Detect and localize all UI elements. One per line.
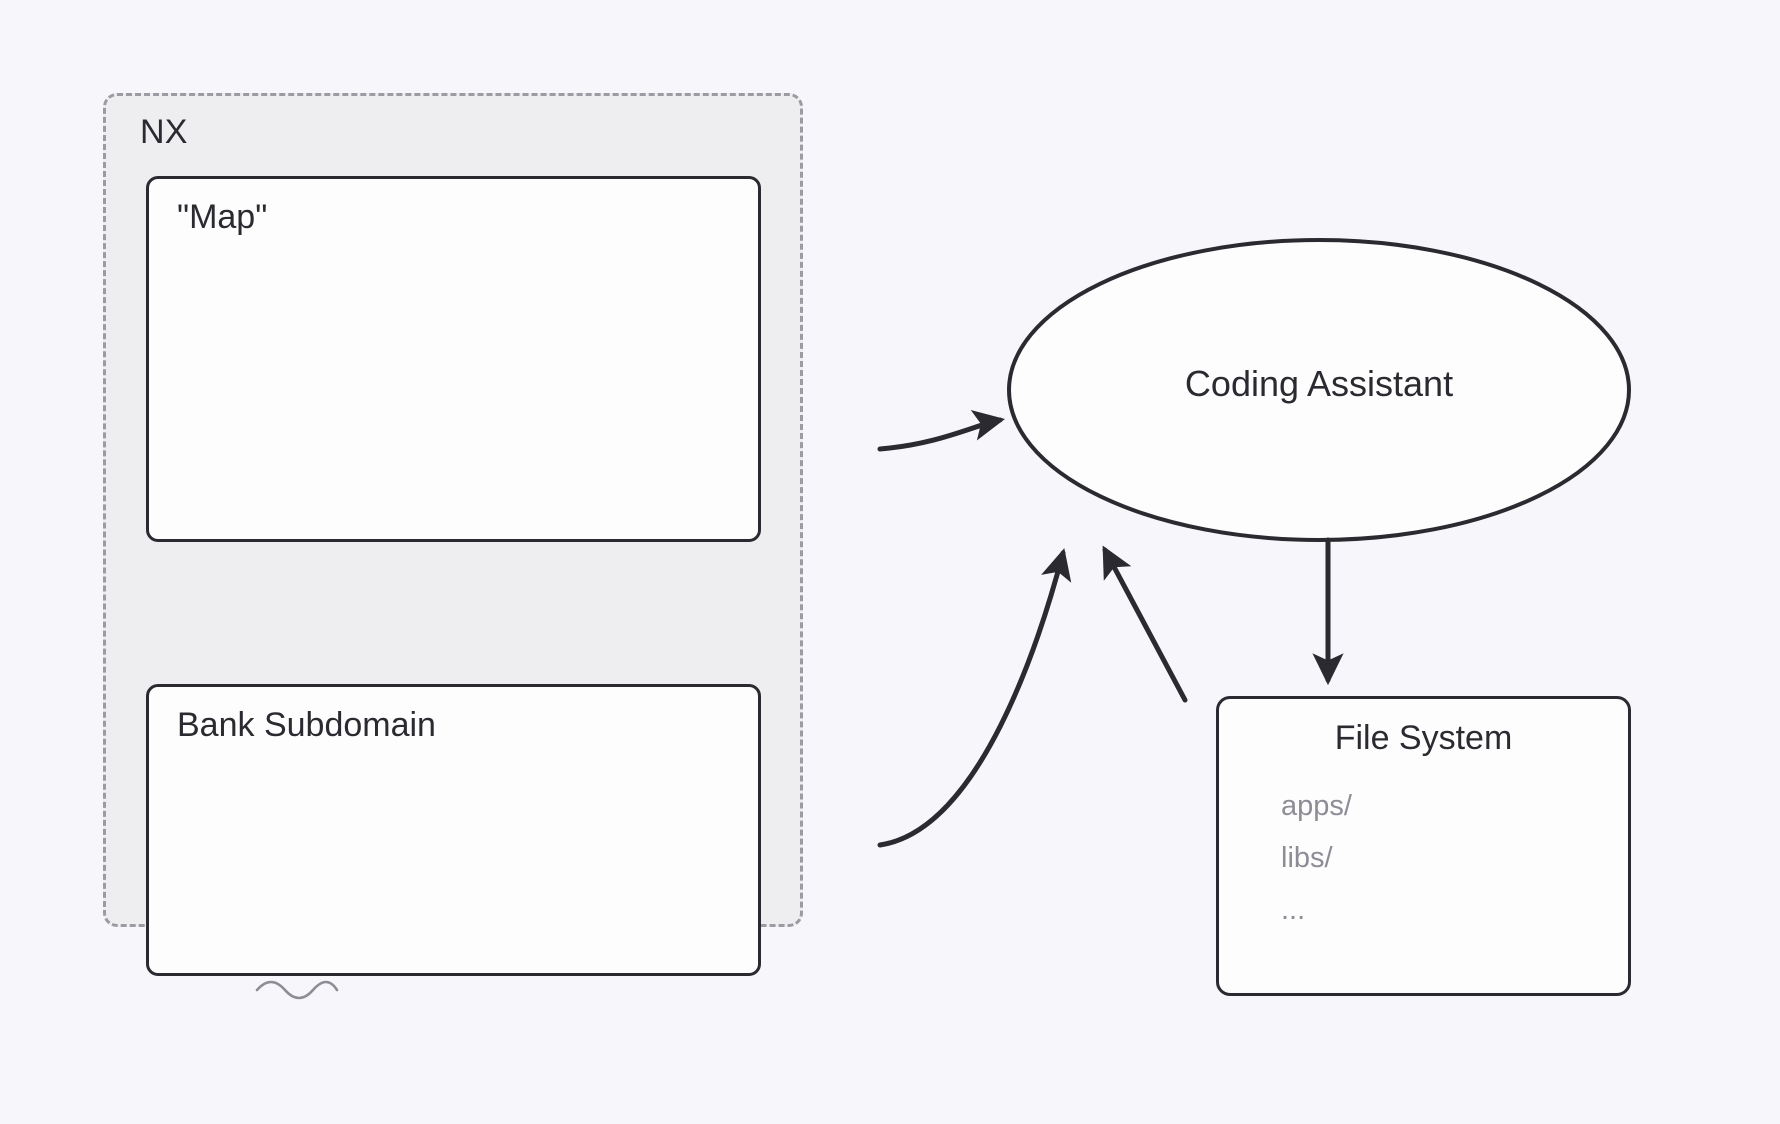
list-item[interactable]: libs/ <box>1281 844 1352 873</box>
file-system-title: File System <box>1219 719 1628 758</box>
diagram-canvas: NX "Map" Bank Subdomain Coding Assistant… <box>0 0 1780 1124</box>
list-item[interactable]: apps/ <box>1281 792 1352 821</box>
squiggle-line <box>257 982 337 998</box>
nx-container-label: NX <box>140 113 188 152</box>
coding-assistant-ellipse[interactable] <box>1009 240 1629 540</box>
file-system-card[interactable]: File System apps/ libs/ ... <box>1216 696 1631 996</box>
arrow-filesystem-to-coding-assistant <box>1105 550 1185 700</box>
arrow-map-to-coding-assistant <box>880 420 1000 449</box>
list-item[interactable]: ... <box>1281 896 1352 925</box>
bank-subdomain-label: Bank Subdomain <box>177 706 436 745</box>
arrow-bank-to-coding-assistant <box>880 553 1063 845</box>
file-system-item-list: apps/ libs/ ... <box>1281 792 1352 925</box>
map-card-label: "Map" <box>177 198 267 237</box>
